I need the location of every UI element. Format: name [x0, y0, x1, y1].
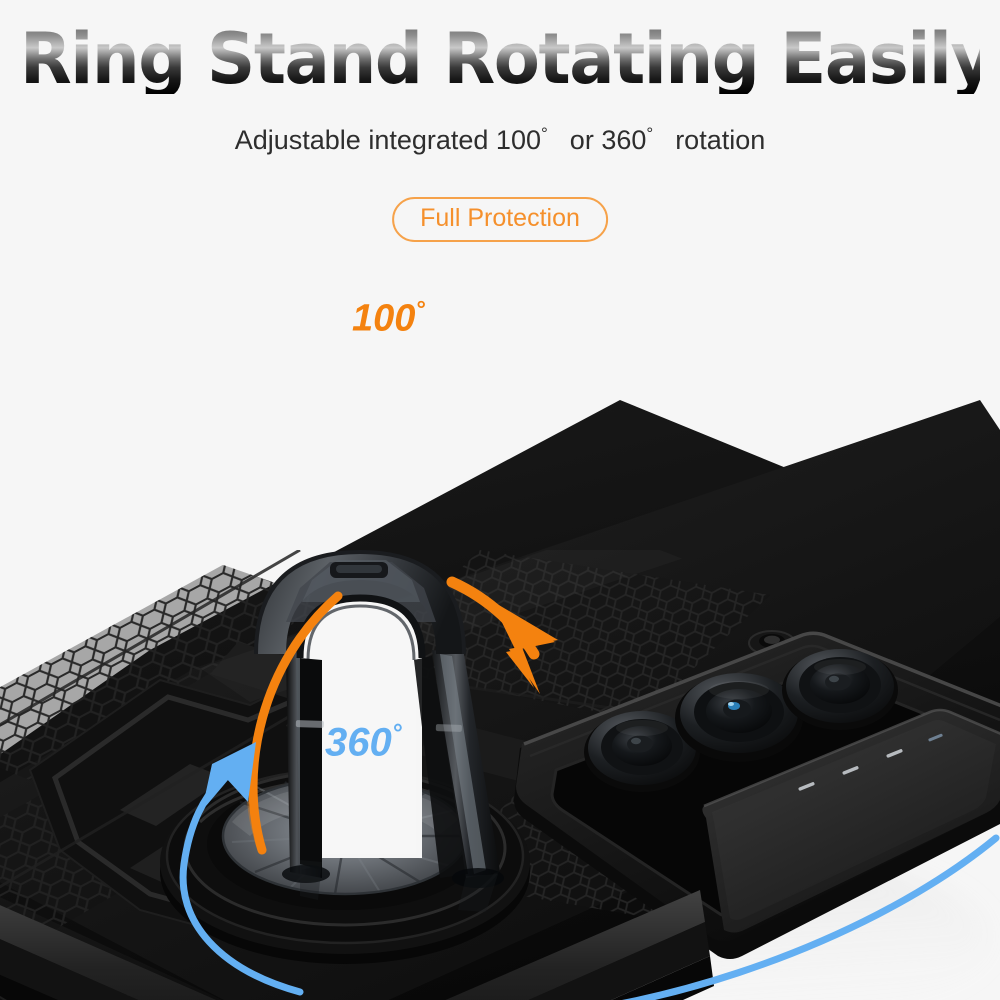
subtitle-value-2: 360 [601, 125, 646, 155]
subtitle-mid: or [570, 125, 602, 155]
degree-symbol-2: ° [646, 124, 653, 143]
degree-symbol-1: ° [541, 124, 548, 143]
callout-360-degree-icon: ° [392, 720, 402, 747]
subtitle-suffix: rotation [675, 125, 765, 155]
page-title: Ring Stand Rotating Easily [20, 24, 980, 94]
callout-label-100-degrees: 100° [352, 298, 425, 338]
callout-360-value: 360 [325, 720, 392, 764]
callout-100-value: 100 [352, 298, 415, 340]
subtitle: Adjustable integrated 100°or 360°rotatio… [0, 124, 1000, 156]
product-photo [0, 250, 1000, 1000]
infographic-canvas: Ring Stand Rotating Easily Adjustable in… [0, 0, 1000, 1000]
callout-100-degree-icon: ° [415, 296, 424, 322]
subtitle-value-1: 100 [496, 125, 541, 155]
callout-label-360-degrees: 360° [325, 722, 402, 762]
subtitle-prefix: Adjustable integrated [235, 125, 496, 155]
status-badge: Full Protection [392, 197, 608, 242]
